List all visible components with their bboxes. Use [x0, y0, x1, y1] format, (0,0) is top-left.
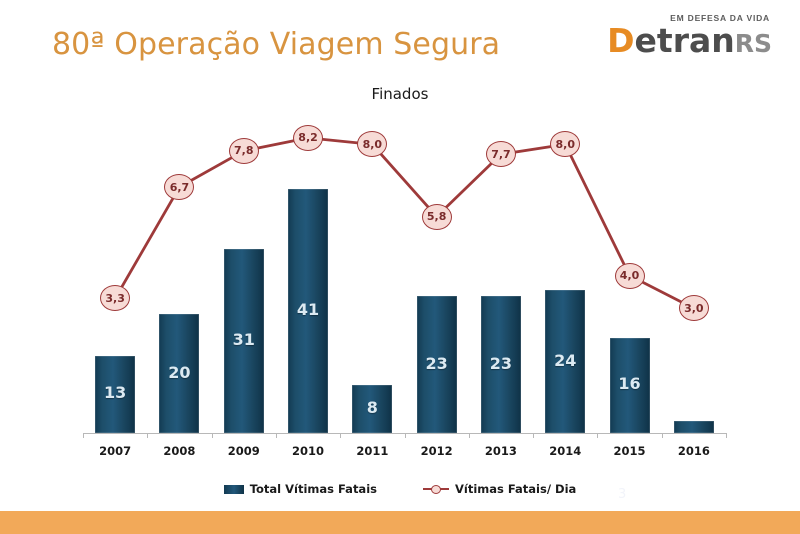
line-marker-2011: 8,0 [357, 131, 387, 157]
logo-letter-d: D [607, 21, 634, 60]
page-number: 3 [618, 487, 626, 502]
x-axis-tick-2010 [276, 433, 277, 438]
line-marker-2007: 3,3 [100, 285, 130, 311]
line-marker-2014: 8,0 [550, 131, 580, 157]
plot-area: 132031418232324163,36,77,88,28,05,87,78,… [0, 110, 800, 470]
line-marker-2013: 7,7 [486, 141, 516, 167]
legend-item-bars[interactable]: Total Vítimas Fatais [224, 482, 377, 496]
x-axis-label-2010: 2010 [276, 444, 340, 458]
legend-item-line[interactable]: Vítimas Fatais/ Dia [423, 482, 576, 496]
x-axis-tick-2012 [405, 433, 406, 438]
line-marker-2012: 5,8 [422, 204, 452, 230]
x-axis-tick-2013 [469, 433, 470, 438]
bar-value-label-2011: 8 [342, 398, 402, 417]
x-axis-label-2007: 2007 [83, 444, 147, 458]
footer-accent-bar [0, 511, 800, 534]
line-marker-2016: 3,0 [679, 295, 709, 321]
x-axis-label-2011: 2011 [340, 444, 404, 458]
legend-bars-label: Total Vítimas Fatais [250, 482, 377, 496]
x-axis-label-2014: 2014 [533, 444, 597, 458]
x-axis-tick-2015 [597, 433, 598, 438]
bar-value-label-2015: 16 [600, 374, 660, 393]
x-axis-label-2013: 2013 [469, 444, 533, 458]
x-axis-label-2015: 2015 [598, 444, 662, 458]
x-axis-tick-2016 [662, 433, 663, 438]
bar-value-label-2012: 23 [407, 354, 467, 373]
line-marker-2008: 6,7 [164, 174, 194, 200]
x-axis-tick-2008 [147, 433, 148, 438]
line-series-path [115, 138, 694, 308]
logo-wordmark: DetranRS [592, 24, 772, 57]
line-marker-2009: 7,8 [229, 138, 259, 164]
slide-canvas: 80ª Operação Viagem Segura EM DEFESA DA … [0, 0, 800, 534]
x-axis-tick-end [726, 433, 727, 438]
bar-value-label-2014: 24 [535, 351, 595, 370]
bar-value-label-2007: 13 [85, 383, 145, 402]
chart-legend: Total Vítimas Fatais Vítimas Fatais/ Dia [0, 482, 800, 496]
legend-line-label: Vítimas Fatais/ Dia [455, 482, 576, 496]
bar-2016 [674, 421, 714, 433]
chart-subtitle: Finados [0, 85, 800, 103]
combo-chart: 132031418232324163,36,77,88,28,05,87,78,… [0, 110, 800, 470]
x-axis-tick-2014 [533, 433, 534, 438]
line-marker-2010: 8,2 [293, 125, 323, 151]
bar-value-label-2009: 31 [214, 330, 274, 349]
logo-text-etran: etran [635, 21, 735, 60]
logo-text-rs: RS [735, 29, 772, 58]
legend-line-swatch-icon [423, 484, 449, 494]
line-marker-2015: 4,0 [615, 263, 645, 289]
page-title: 80ª Operação Viagem Segura [52, 27, 500, 62]
bar-value-label-2013: 23 [471, 354, 531, 373]
x-axis-label-2008: 2008 [147, 444, 211, 458]
detran-rs-logo: EM DEFESA DA VIDA DetranRS [592, 14, 772, 72]
x-axis-label-2016: 2016 [662, 444, 726, 458]
x-axis-tick-2007 [83, 433, 84, 438]
bar-value-label-2010: 41 [278, 300, 338, 319]
bar-value-label-2008: 20 [149, 363, 209, 382]
x-axis-label-2012: 2012 [405, 444, 469, 458]
x-axis-tick-2011 [340, 433, 341, 438]
x-axis-label-2009: 2009 [212, 444, 276, 458]
legend-bar-swatch-icon [224, 485, 244, 494]
x-axis-tick-2009 [212, 433, 213, 438]
